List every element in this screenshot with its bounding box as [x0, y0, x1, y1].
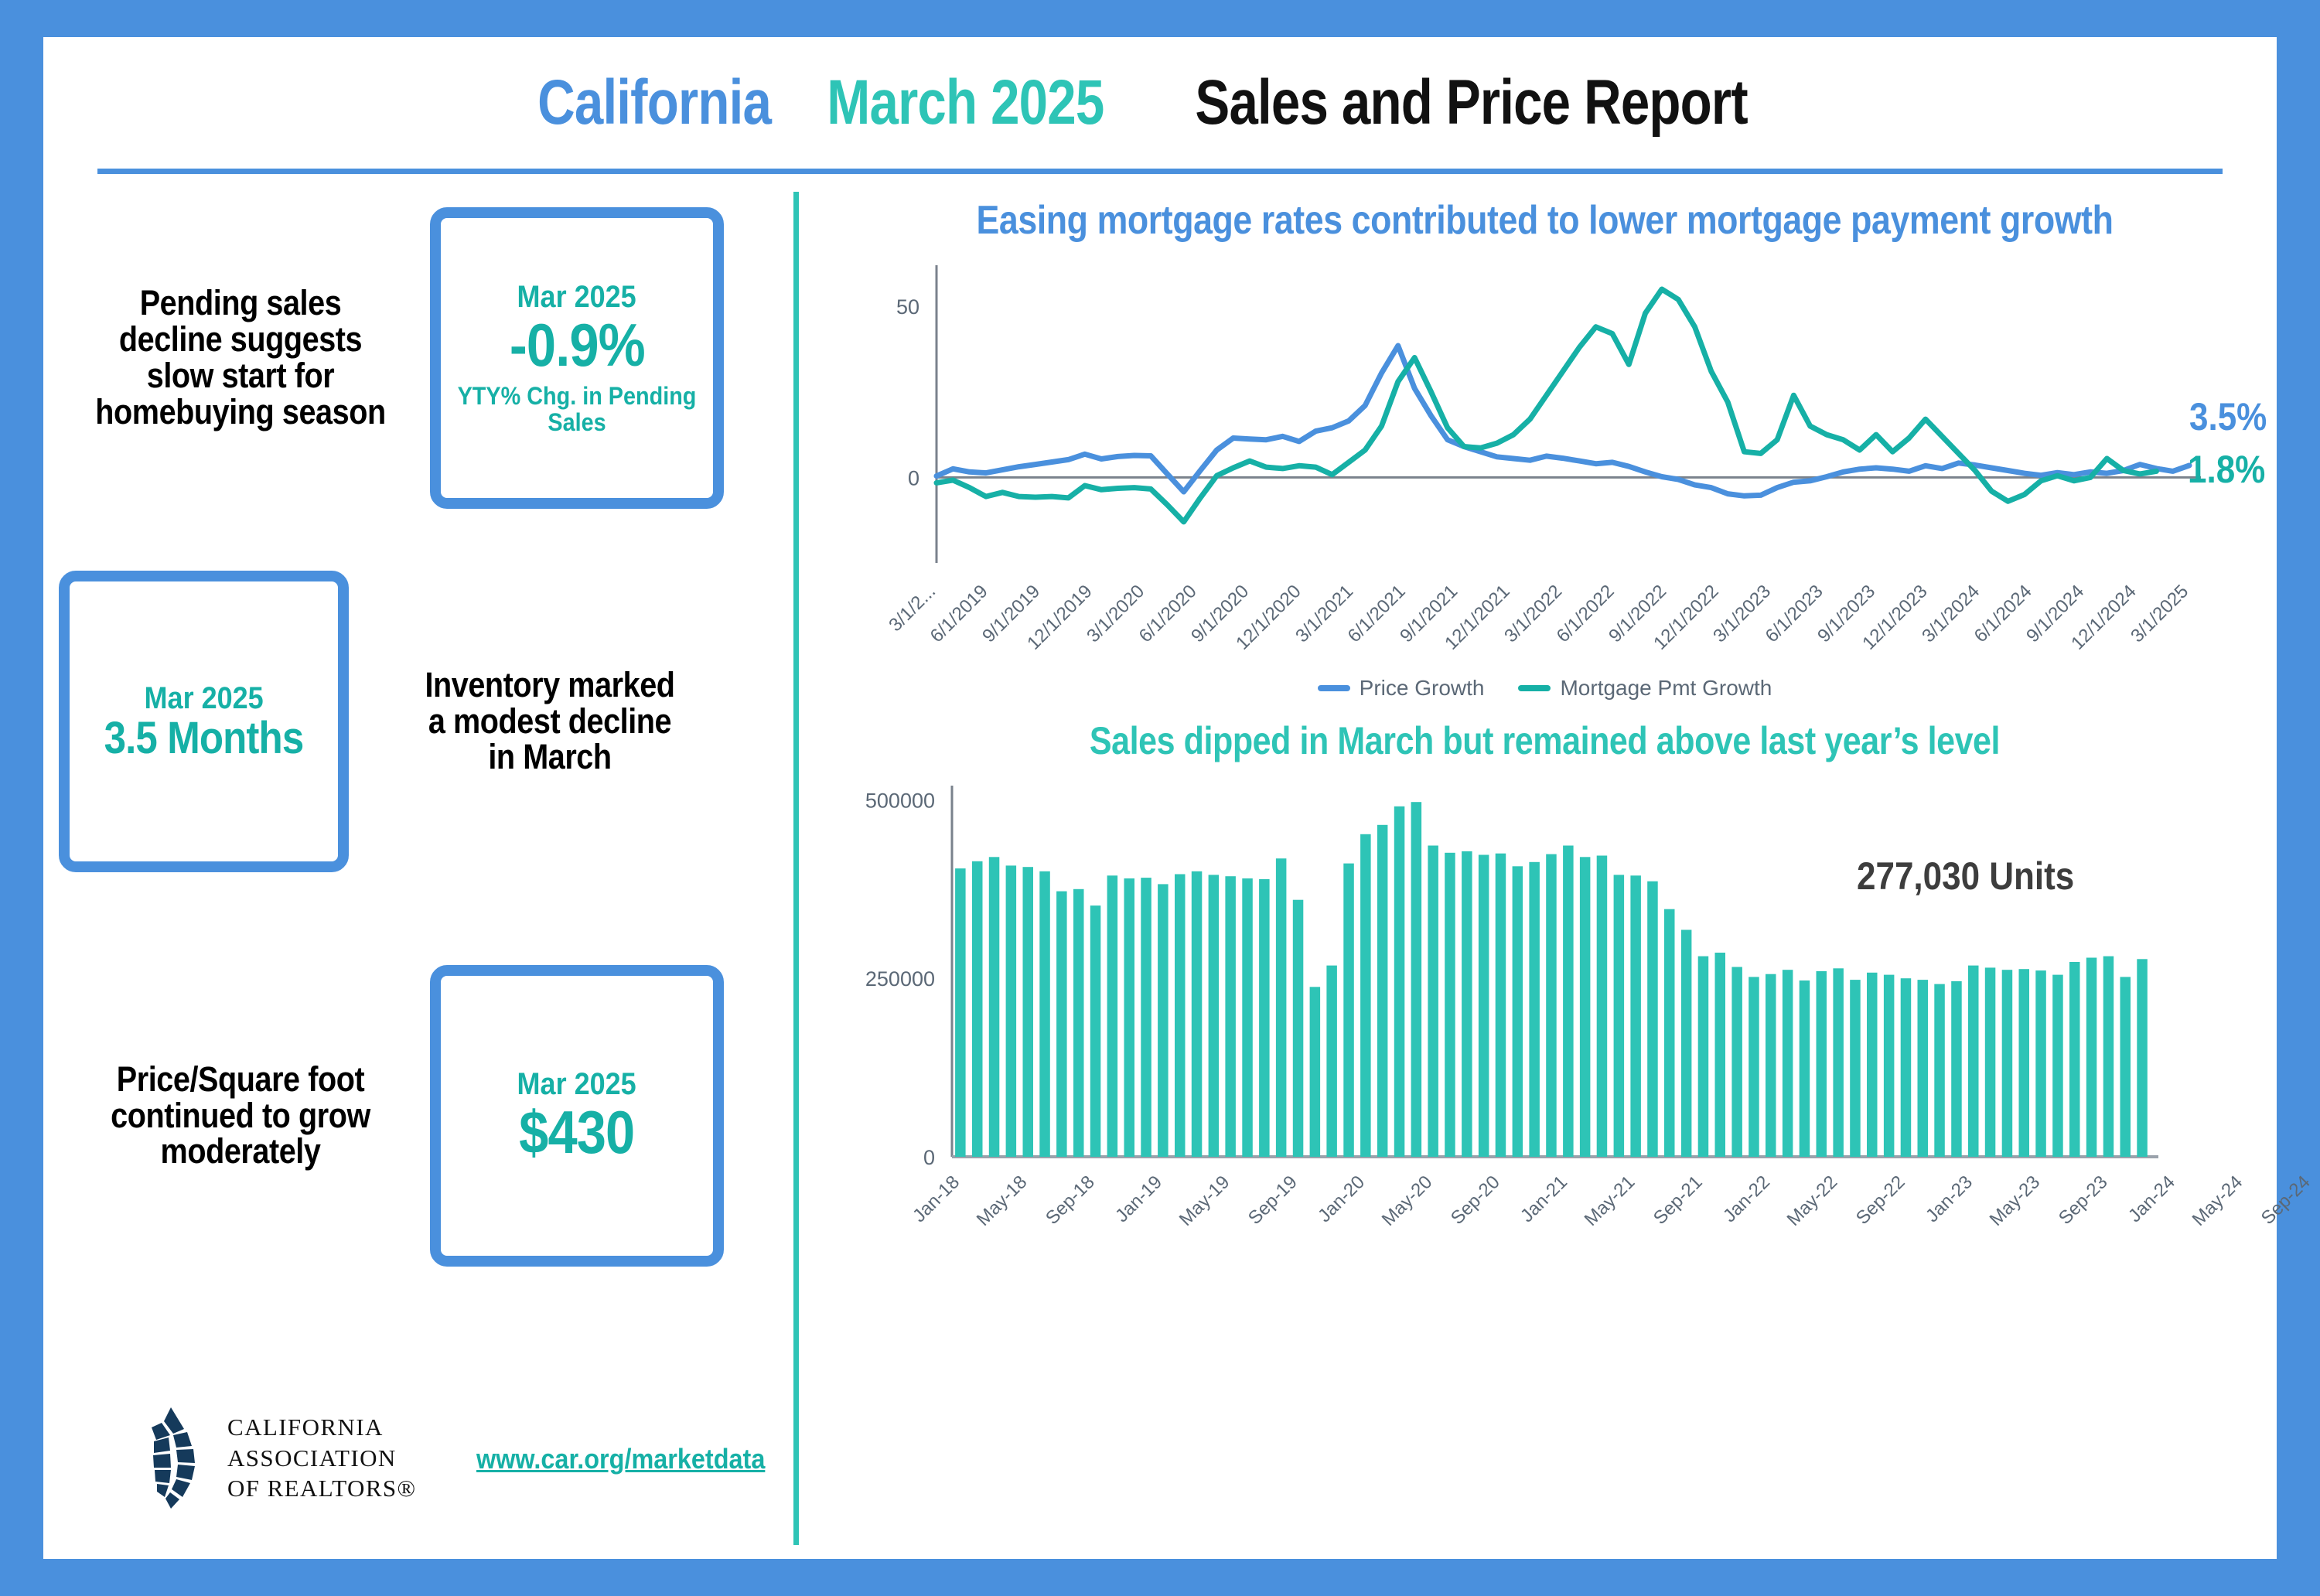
svg-text:Sep-20: Sep-20	[1447, 1171, 1504, 1229]
svg-text:Sep-22: Sep-22	[1852, 1171, 1909, 1229]
svg-text:Jan-19: Jan-19	[1111, 1171, 1166, 1226]
line-chart-title: Easing mortgage rates contributed to low…	[922, 198, 2168, 243]
svg-text:3/1/2020: 3/1/2020	[1083, 581, 1148, 646]
stat-block-pending-sales: Pending sales decline suggests slow star…	[74, 207, 770, 509]
svg-text:Jan-20: Jan-20	[1314, 1171, 1369, 1226]
svg-text:May-19: May-19	[1175, 1171, 1234, 1230]
svg-text:3/1/2024: 3/1/2024	[1918, 581, 1984, 646]
kpi-box-price-sqft: Mar 2025 $430	[430, 965, 724, 1267]
svg-text:3/1/2021: 3/1/2021	[1291, 581, 1357, 646]
svg-text:Jan-22: Jan-22	[1719, 1171, 1774, 1226]
price-growth-end-label: 3.5%	[2189, 394, 2267, 439]
svg-text:6/1/2021: 6/1/2021	[1344, 581, 1410, 646]
kpi-sub-pending-sales: YTY% Chg. in Pending Sales	[455, 384, 700, 435]
svg-text:0: 0	[923, 1146, 935, 1169]
svg-text:6/1/2022: 6/1/2022	[1553, 581, 1619, 646]
svg-text:May-23: May-23	[1986, 1171, 2045, 1230]
car-logo-mark-icon	[128, 1406, 213, 1510]
svg-text:Sep-19: Sep-19	[1244, 1171, 1302, 1229]
svg-text:Sep-23: Sep-23	[2055, 1171, 2112, 1229]
stat-blurb-pending-sales: Pending sales decline suggests slow star…	[94, 285, 387, 430]
stat-blurb-inventory: Inventory marked a modest decline in Mar…	[414, 667, 686, 776]
svg-text:Jan-18: Jan-18	[909, 1171, 964, 1226]
svg-text:Sep-24: Sep-24	[2257, 1171, 2313, 1229]
bar-chart-svg: 0250000500000Jan-18May-18Sep-18Jan-19May…	[821, 770, 2313, 1265]
svg-text:3/1/2022: 3/1/2022	[1500, 581, 1566, 646]
svg-text:3/1/2023: 3/1/2023	[1709, 581, 1775, 646]
column-divider	[793, 192, 799, 1545]
line-chart-svg: 0503/1/2...6/1/20199/1/201912/1/20193/1/…	[821, 254, 2313, 687]
svg-text:0: 0	[908, 467, 919, 490]
kpi-value-pending-sales: -0.9%	[510, 314, 645, 377]
svg-text:6/1/2019: 6/1/2019	[926, 581, 992, 646]
mortgage-growth-end-label: 1.8%	[2188, 447, 2265, 492]
infographic-canvas: California March 2025 Sales and Price Re…	[43, 37, 2277, 1559]
logo-line-2: ASSOCIATION	[227, 1443, 417, 1474]
car-logo: CALIFORNIA ASSOCIATION OF REALTORS®	[128, 1406, 417, 1510]
svg-text:Sep-18: Sep-18	[1042, 1171, 1099, 1229]
logo-line-1: CALIFORNIA	[227, 1412, 417, 1443]
title-part-report: Sales and Price Report	[1195, 66, 1747, 139]
left-column: Pending sales decline suggests slow star…	[43, 192, 790, 1553]
svg-text:May-22: May-22	[1783, 1171, 1842, 1230]
kpi-value-inventory: 3.5 Months	[104, 715, 304, 762]
mortgage-rates-line-chart: 0503/1/2...6/1/20199/1/201912/1/20193/1/…	[821, 254, 2313, 687]
logo-line-3: OF REALTORS®	[227, 1473, 417, 1504]
svg-text:500000: 500000	[865, 789, 935, 813]
svg-text:50: 50	[896, 295, 919, 319]
kpi-box-pending-sales: Mar 2025 -0.9% YTY% Chg. in Pending Sale…	[430, 207, 724, 509]
units-annotation-label: 277,030 Units	[1857, 854, 2074, 899]
svg-text:Sep-21: Sep-21	[1650, 1171, 1707, 1229]
sales-bar-chart: 0250000500000Jan-18May-18Sep-18Jan-19May…	[821, 770, 2313, 1265]
title-part-california: California	[537, 66, 771, 139]
infographic-page: California March 2025 Sales and Price Re…	[0, 0, 2320, 1596]
svg-text:Jan-23: Jan-23	[1922, 1171, 1977, 1226]
stat-blurb-price-sqft: Price/Square foot continued to grow mode…	[94, 1062, 387, 1170]
svg-text:May-24: May-24	[2189, 1171, 2247, 1230]
title-divider	[97, 169, 2223, 174]
car-logo-text: CALIFORNIA ASSOCIATION OF REALTORS®	[227, 1412, 417, 1504]
svg-text:250000: 250000	[865, 967, 935, 991]
svg-text:May-21: May-21	[1581, 1171, 1639, 1230]
page-title: California March 2025 Sales and Price Re…	[43, 66, 2277, 139]
svg-text:6/1/2020: 6/1/2020	[1135, 581, 1201, 646]
svg-text:Jan-21: Jan-21	[1517, 1171, 1571, 1226]
svg-text:May-18: May-18	[973, 1171, 1032, 1230]
kpi-month-pending-sales: Mar 2025	[517, 280, 636, 314]
stat-block-price-sqft: Price/Square foot continued to grow mode…	[74, 965, 770, 1267]
kpi-month-price-sqft: Mar 2025	[517, 1067, 636, 1101]
svg-text:6/1/2024: 6/1/2024	[1970, 581, 2036, 646]
marketdata-url-link[interactable]: www.car.org/marketdata	[476, 1443, 765, 1475]
kpi-month-inventory: Mar 2025	[144, 681, 263, 715]
kpi-box-inventory: Mar 2025 3.5 Months	[59, 571, 349, 872]
svg-text:May-20: May-20	[1378, 1171, 1437, 1230]
right-column: Easing mortgage rates contributed to low…	[821, 192, 2269, 1551]
title-part-month: March 2025	[827, 66, 1104, 139]
svg-text:Jan-24: Jan-24	[2124, 1171, 2179, 1226]
svg-text:6/1/2023: 6/1/2023	[1762, 581, 1827, 646]
svg-text:3/1/2025: 3/1/2025	[2127, 581, 2192, 646]
kpi-value-price-sqft: $430	[519, 1101, 634, 1165]
bar-chart-title: Sales dipped in March but remained above…	[922, 719, 2168, 762]
stat-block-inventory: Mar 2025 3.5 Months Inventory marked a m…	[59, 571, 755, 872]
